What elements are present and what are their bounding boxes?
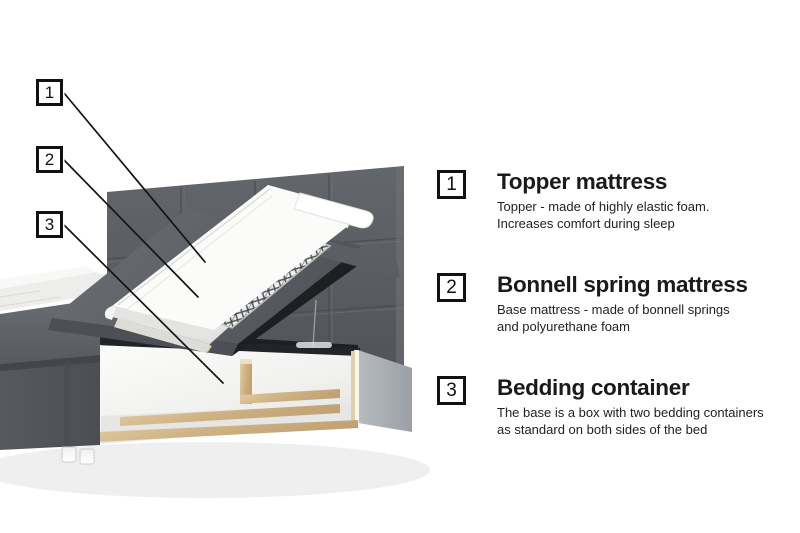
legend-number-1: 1 — [437, 170, 466, 199]
legend-text-2: Bonnell spring mattress Base mattress - … — [497, 271, 800, 335]
legend-desc-1: Topper - made of highly elastic foam. In… — [497, 199, 800, 232]
legend-desc-2: Base mattress - made of bonnell springs … — [497, 302, 800, 335]
legend-number-2: 2 — [437, 273, 466, 302]
bed-illustration: 1 2 3 — [0, 0, 430, 533]
callout-box-2: 2 — [36, 146, 63, 173]
legend-desc-3: The base is a box with two bedding conta… — [497, 405, 800, 438]
legend-desc-3-line2: as standard on both sides of the bed — [497, 422, 800, 439]
legend-desc-2-line2: and polyurethane foam — [497, 319, 800, 336]
legend-text-1: Topper mattress Topper - made of highly … — [497, 168, 800, 232]
callout-number-1: 1 — [45, 84, 54, 101]
legend-desc-2-line1: Base mattress - made of bonnell springs — [497, 302, 800, 319]
legend-desc-3-line1: The base is a box with two bedding conta… — [497, 405, 800, 422]
legend-desc-1-line1: Topper - made of highly elastic foam. — [497, 199, 800, 216]
legend-title-1: Topper mattress — [497, 168, 800, 195]
callout-number-3: 3 — [45, 216, 54, 233]
callout-box-3: 3 — [36, 211, 63, 238]
legend-title-3: Bedding container — [497, 374, 800, 401]
infographic-root: 1 2 3 1 Topper mattress Topper - made of… — [0, 0, 800, 533]
callout-box-1: 1 — [36, 79, 63, 106]
legend-desc-1-line2: Increases comfort during sleep — [497, 216, 800, 233]
legend-panel: 1 Topper mattress Topper - made of highl… — [430, 0, 800, 533]
legend-number-3: 3 — [437, 376, 466, 405]
legend-text-3: Bedding container The base is a box with… — [497, 374, 800, 438]
legend-title-2: Bonnell spring mattress — [497, 271, 800, 298]
callout-number-2: 2 — [45, 151, 54, 168]
